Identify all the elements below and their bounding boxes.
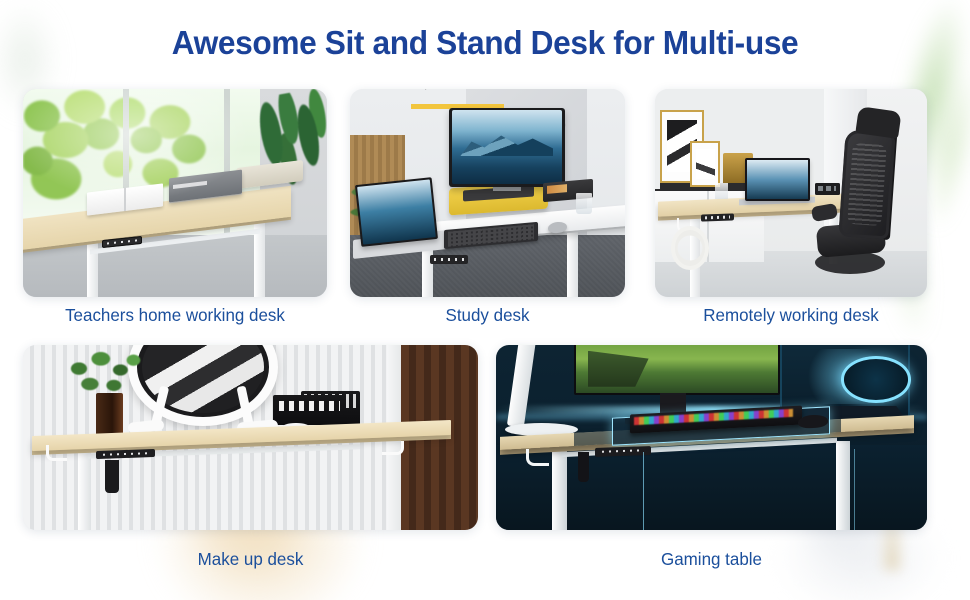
side-hook-right [382, 441, 403, 455]
photo-study-desk [350, 89, 625, 297]
promo-banner: Awesome Sit and Stand Desk for Multi-use [0, 0, 970, 600]
framed-art-small [690, 141, 720, 187]
pc-fan [841, 356, 912, 403]
photo-teachers-home-working-desk [23, 89, 327, 297]
gallery-panel-make-up-desk[interactable] [23, 345, 478, 530]
sunlight-glare [23, 89, 327, 297]
chair-backrest [839, 129, 896, 239]
ergonomic-chair [807, 106, 927, 297]
photo-remotely-working-desk [655, 89, 927, 297]
gallery-panel-gaming-table[interactable] [496, 345, 927, 530]
wall-led-line-left [643, 452, 645, 530]
chair-armrest [811, 203, 838, 222]
wall-led-line-right [854, 449, 856, 530]
monitor-screen [576, 345, 779, 393]
side-hook-left [46, 445, 67, 461]
laptop-screen [357, 179, 436, 245]
laptop [355, 177, 438, 247]
headphone-hook [526, 449, 548, 467]
cosmetics-set-left [273, 395, 346, 425]
cable-bundle [105, 460, 119, 493]
caption-study-desk: Study desk [354, 307, 621, 325]
desk-leg-right [836, 441, 850, 530]
gallery-panel-study-desk[interactable] [350, 89, 625, 297]
glass [715, 183, 729, 200]
gallery-panel-teachers-home-working-desk[interactable] [23, 89, 327, 297]
caption-gaming-table: Gaming table [502, 551, 920, 569]
laptop-screen [747, 160, 808, 200]
gallery-grid: Teachers home working desk [0, 0, 970, 600]
monitor-screen [452, 110, 563, 184]
desk-leg-left [552, 445, 567, 530]
gallery-panel-remotely-working-desk[interactable] [655, 89, 927, 297]
desk-leg-right [567, 230, 578, 297]
monitor [449, 108, 565, 187]
glass [576, 193, 593, 214]
desk-control-keypad [701, 213, 734, 222]
monitor [574, 345, 781, 395]
photo-gaming-table [496, 345, 927, 530]
photo-make-up-desk [23, 345, 478, 530]
cable-bundle [578, 452, 589, 482]
laptop [745, 158, 810, 202]
desk-control-keypad [96, 448, 155, 458]
caption-make-up-desk: Make up desk [30, 551, 471, 569]
headphones [671, 226, 709, 269]
caption-teachers-home-working-desk: Teachers home working desk [28, 307, 323, 325]
desk-control-keypad [430, 255, 469, 264]
caption-remotely-working-desk: Remotely working desk [659, 307, 923, 325]
desk-leg-left [78, 449, 92, 530]
